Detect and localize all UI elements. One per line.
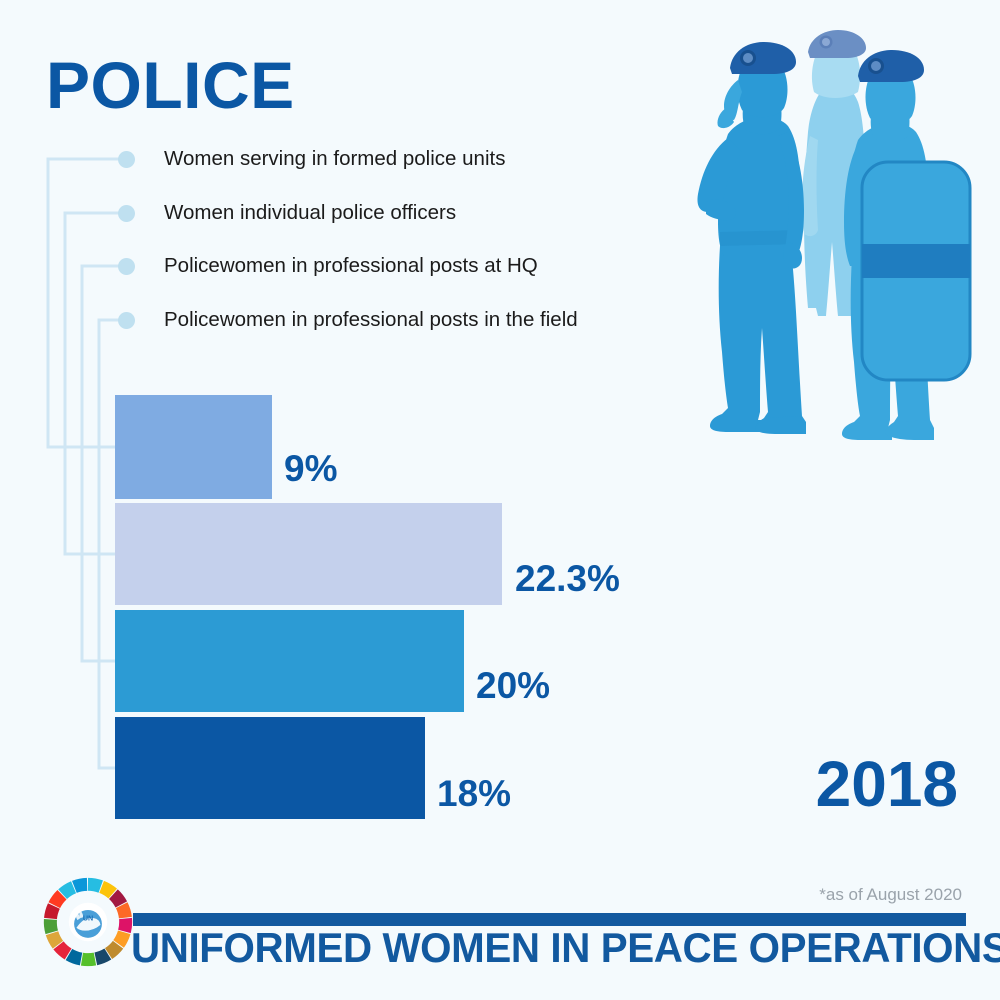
page-title: POLICE xyxy=(46,52,295,118)
legend-item-professional-posts-hq[interactable]: Policewomen in professional posts at HQ xyxy=(118,256,538,276)
un-beret-icon xyxy=(808,30,866,58)
bar-formed-police-units xyxy=(115,395,272,499)
legend-dot-icon xyxy=(118,151,135,168)
legend-item-individual-police-officers[interactable]: Women individual police officers xyxy=(118,203,456,223)
bar-value-individual-police-officers: 22.3% xyxy=(515,560,620,597)
svg-text:UN: UN xyxy=(83,914,93,923)
bar-value-formed-police-units: 9% xyxy=(284,450,337,487)
bar-professional-posts-field xyxy=(115,717,425,819)
legend-item-professional-posts-field[interactable]: Policewomen in professional posts in the… xyxy=(118,310,578,330)
year-label: 2018 xyxy=(816,752,958,816)
infographic-poster: POLICE Women serving in formed police un… xyxy=(0,0,1000,1000)
un-beret-icon xyxy=(730,42,796,74)
legend-dot-icon xyxy=(118,205,135,222)
legend-item-label: Women serving in formed police units xyxy=(164,149,505,170)
police-figure-left xyxy=(697,42,806,434)
footer-title: UNIFORMED WOMEN IN PEACE OPERATIONS xyxy=(131,925,947,970)
un-sdg-wheel-logo: UN xyxy=(40,874,136,970)
footnote: *as of August 2020 xyxy=(819,886,962,903)
bar-individual-police-officers xyxy=(115,503,502,605)
un-beret-icon xyxy=(858,50,924,82)
riot-shield-icon xyxy=(862,162,970,380)
legend-item-formed-police-units[interactable]: Women serving in formed police units xyxy=(118,149,505,169)
legend-dot-icon xyxy=(118,312,135,329)
un-emblem-icon: UN xyxy=(74,910,102,938)
legend-dot-icon xyxy=(118,258,135,275)
police-figure-right xyxy=(842,50,970,440)
legend-item-label: Policewomen in professional posts at HQ xyxy=(164,256,538,277)
legend-item-label: Women individual police officers xyxy=(164,203,456,224)
bar-value-professional-posts-hq: 20% xyxy=(476,667,550,704)
bar-professional-posts-hq xyxy=(115,610,464,712)
bar-value-professional-posts-field: 18% xyxy=(437,775,511,812)
legend-item-label: Policewomen in professional posts in the… xyxy=(164,310,578,331)
un-police-officers-silhouette xyxy=(676,16,1000,440)
